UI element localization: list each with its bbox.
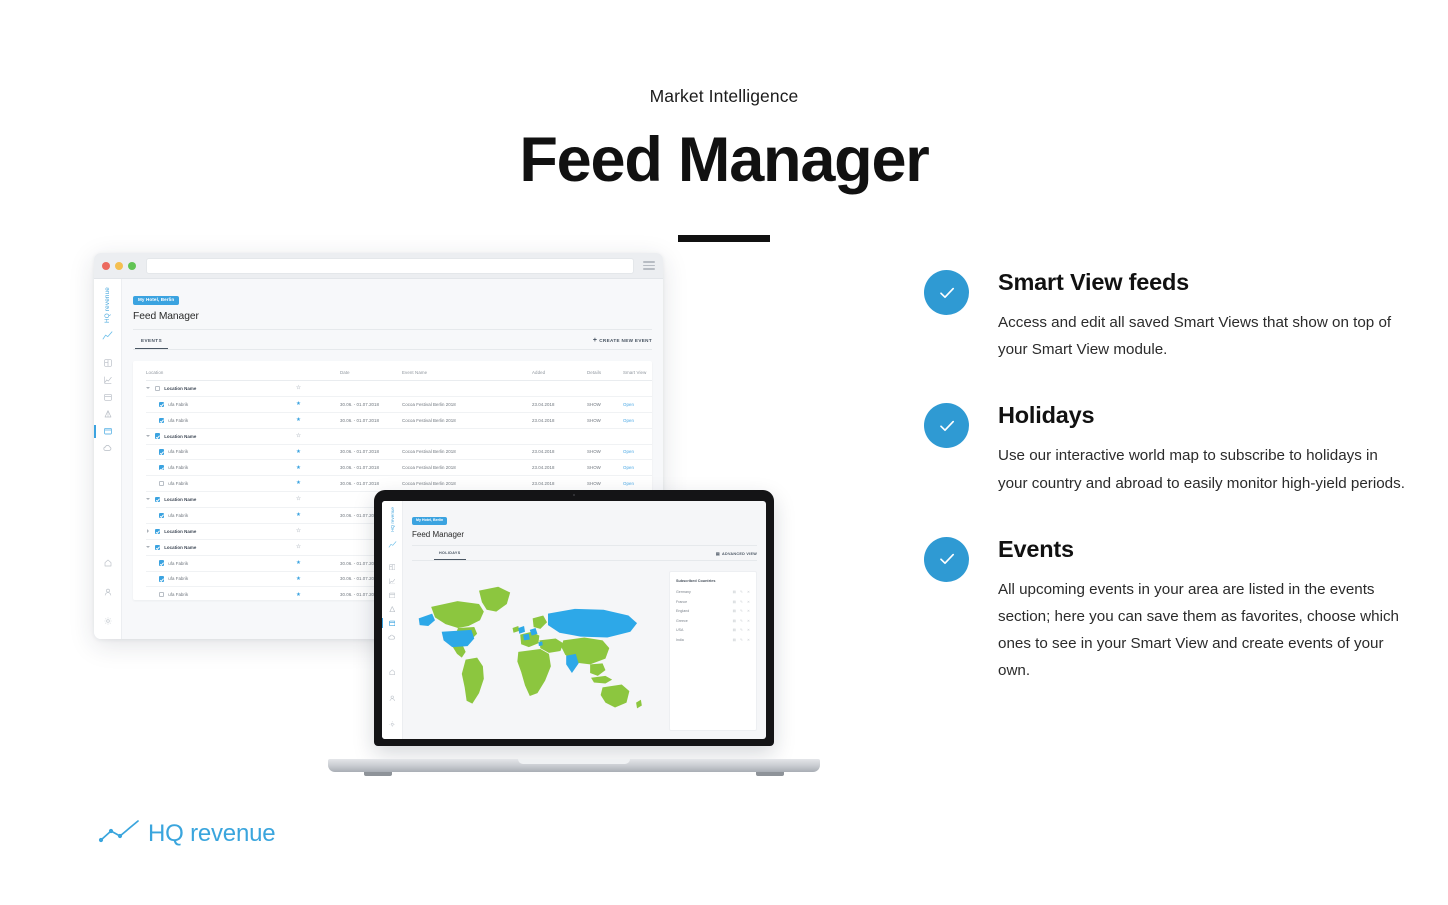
sidebar-brand-mark-icon (102, 327, 113, 345)
cell-favorite: ☆ (296, 381, 340, 397)
country-actions: ▤✎✕ (733, 590, 750, 594)
cell-event-name: Cocoa Festival Berlin 2018 (402, 396, 532, 412)
app-page-title: Feed Manager (133, 311, 652, 322)
laptop-mockup: HQ revenue (328, 490, 820, 780)
settings-icon[interactable] (389, 714, 396, 732)
cell-event-name (402, 428, 532, 444)
country-actions: ▤✎✕ (733, 638, 750, 642)
column-header-added[interactable]: Added (532, 370, 587, 381)
cell-added: 23.04.2018 (532, 460, 587, 476)
footer-brand-text: HQ revenue (148, 820, 275, 848)
feature-title: Events (998, 535, 1410, 563)
page-title: Feed Manager (0, 127, 1448, 193)
cell-added (532, 428, 587, 444)
favorite-star-icon[interactable]: ★ (296, 512, 301, 518)
cell-smart-view: Open (623, 460, 652, 476)
cell-favorite: ☆ (296, 428, 340, 444)
cell-details[interactable]: SHOW (587, 444, 623, 460)
cell-location: ufa Fabrik (146, 587, 296, 600)
user-icon[interactable] (389, 688, 396, 706)
hamburger-icon[interactable] (643, 261, 655, 270)
cell-location: ufa Fabrik (146, 571, 296, 587)
cell-date (340, 428, 402, 444)
subscribed-country-row[interactable]: Greece▤✎✕ (676, 619, 750, 623)
favorite-star-icon[interactable]: ★ (296, 576, 301, 582)
sidebar-item-calendar[interactable] (382, 592, 402, 599)
cell-details[interactable]: SHOW (587, 412, 623, 428)
sidebar-item-competitor[interactable] (382, 606, 402, 613)
country-name: USA (676, 628, 683, 632)
title-underline-rule (678, 235, 770, 242)
laptop-tabs-row: HOLIDAYS ▤ ADVANCED VIEW (412, 546, 757, 561)
remove-icon[interactable]: ✕ (747, 638, 750, 642)
cell-location: Location Name (146, 428, 296, 444)
row-checkbox[interactable] (159, 513, 164, 518)
row-checkbox[interactable] (159, 481, 164, 486)
table-row[interactable]: ufa Fabrik★30.06. - 01.07.2018Cocoa Fest… (146, 396, 652, 412)
cell-details[interactable]: SHOW (587, 396, 623, 412)
location-label: Location Name (164, 497, 196, 502)
feature-item-smart-view-feeds: Smart View feeds Access and edit all sav… (924, 268, 1410, 363)
feature-list: Smart View feeds Access and edit all sav… (924, 268, 1410, 684)
cell-location: Location Name (146, 381, 296, 397)
favorite-star-icon[interactable]: ★ (296, 417, 301, 423)
create-new-event-button[interactable]: + CREATE NEW EVENT (593, 337, 652, 349)
laptop-camera-icon (573, 494, 575, 496)
location-label: ufa Fabrik (168, 576, 188, 581)
country-actions: ▤✎✕ (733, 628, 750, 632)
calendar-icon[interactable]: ▤ (733, 609, 736, 613)
cell-added: 23.04.2018 (532, 412, 587, 428)
advanced-view-button[interactable]: ▤ ADVANCED VIEW (716, 551, 757, 560)
country-actions: ▤✎✕ (733, 600, 750, 604)
favorite-star-icon[interactable]: ★ (296, 480, 301, 486)
cell-location: ufa Fabrik (146, 396, 296, 412)
table-head: Location Date Event Name Added Details S… (146, 370, 652, 381)
sidebar-item-analytics[interactable] (94, 376, 121, 384)
laptop-base (328, 759, 820, 772)
cell-details[interactable]: SHOW (587, 460, 623, 476)
calendar-icon[interactable]: ▤ (733, 590, 736, 594)
calendar-icon[interactable]: ▤ (733, 638, 736, 642)
calendar-icon[interactable]: ▤ (733, 628, 736, 632)
edit-icon[interactable]: ✎ (740, 638, 743, 642)
laptop-sidebar-brand-mark-icon (388, 535, 397, 553)
subscribed-country-row[interactable]: USA▤✎✕ (676, 628, 750, 632)
location-label: ufa Fabrik (168, 561, 188, 566)
location-label: Location Name (164, 386, 196, 391)
favorite-star-icon[interactable]: ☆ (296, 528, 301, 534)
cell-location: ufa Fabrik (146, 508, 296, 524)
location-label: ufa Fabrik (168, 465, 188, 470)
row-checkbox[interactable] (159, 418, 164, 423)
edit-icon[interactable]: ✎ (740, 609, 743, 613)
advanced-view-label: ADVANCED VIEW (722, 552, 757, 556)
table-row[interactable]: ufa Fabrik★30.06. - 01.07.2018Cocoa Fest… (146, 412, 652, 428)
cell-favorite: ★ (296, 412, 340, 428)
url-input[interactable] (146, 258, 634, 274)
maximize-window-button[interactable] (128, 262, 136, 270)
location-label: ufa Fabrik (168, 513, 188, 518)
location-label: ufa Fabrik (168, 449, 188, 454)
edit-icon[interactable]: ✎ (740, 628, 743, 632)
cell-date (340, 381, 402, 397)
cell-location: ufa Fabrik (146, 555, 296, 571)
sidebar-bottom-nav (104, 554, 112, 630)
chevron-down-icon[interactable] (146, 497, 151, 502)
feature-item-holidays: Holidays Use our interactive world map t… (924, 401, 1410, 496)
location-label: ufa Fabrik (168, 402, 188, 407)
sidebar-item-competitor[interactable] (94, 410, 121, 418)
cell-details (587, 381, 623, 397)
world-map[interactable] (412, 571, 661, 731)
feature-body: Access and edit all saved Smart Views th… (998, 309, 1410, 363)
feature-body: Use our interactive world map to subscri… (998, 442, 1410, 496)
country-name: Germany (676, 590, 691, 594)
sidebar-item-dashboard[interactable] (382, 564, 402, 571)
close-window-button[interactable] (102, 262, 110, 270)
create-new-event-label: CREATE NEW EVENT (599, 338, 652, 343)
location-label: ufa Fabrik (168, 481, 188, 486)
table-header-row: Location Date Event Name Added Details S… (146, 370, 652, 381)
sidebar-item-analytics[interactable] (382, 578, 402, 585)
sidebar-item-cloud[interactable] (382, 634, 402, 641)
favorite-star-icon[interactable]: ★ (296, 592, 301, 598)
row-checkbox[interactable] (159, 465, 164, 470)
column-header-star (296, 370, 340, 381)
smart-view-open-link[interactable]: Open (623, 449, 634, 454)
subscribed-countries-list: Germany▤✎✕France▤✎✕England▤✎✕Greece▤✎✕US… (676, 590, 750, 642)
sidebar-item-feed-manager[interactable] (94, 427, 121, 435)
cell-added: 23.04.2018 (532, 396, 587, 412)
cell-smart-view: Open (623, 412, 652, 428)
location-label: ufa Fabrik (168, 418, 188, 423)
row-checkbox[interactable] (155, 529, 160, 534)
chevron-down-icon[interactable] (146, 434, 151, 439)
cell-location: ufa Fabrik (146, 412, 296, 428)
cell-location: Location Name (146, 523, 296, 539)
cell-added: 23.04.2018 (532, 444, 587, 460)
smart-view-open-link[interactable]: Open (623, 418, 634, 423)
cell-location: Location Name (146, 492, 296, 508)
smart-view-open-link[interactable]: Open (623, 402, 634, 407)
check-circle-icon (924, 403, 969, 448)
country-name: India (676, 638, 684, 642)
edit-icon[interactable]: ✎ (740, 600, 743, 604)
tabs-row: EVENTS + CREATE NEW EVENT (133, 330, 652, 350)
favorite-star-icon[interactable]: ☆ (296, 385, 301, 391)
home-icon[interactable] (104, 554, 112, 572)
column-header-details[interactable]: Details (587, 370, 623, 381)
table-row[interactable]: Location Name☆ (146, 381, 652, 397)
subscribed-country-row[interactable]: Germany▤✎✕ (676, 590, 750, 594)
location-label: ufa Fabrik (168, 592, 188, 597)
favorite-star-icon[interactable]: ☆ (296, 544, 301, 550)
cell-location: Location Name (146, 539, 296, 555)
row-checkbox[interactable] (159, 402, 164, 407)
browser-chrome-bar (94, 253, 663, 279)
page-header: Market Intelligence Feed Manager (0, 86, 1448, 242)
cell-event-name: Cocoa Festival Berlin 2018 (402, 460, 532, 476)
map-countries-green (431, 587, 642, 709)
laptop-sidebar-nav (382, 564, 402, 641)
cell-favorite: ★ (296, 396, 340, 412)
cell-added (532, 381, 587, 397)
column-header-location[interactable]: Location (146, 370, 296, 381)
sidebar-brand-text: HQ revenue (104, 287, 111, 323)
edit-icon[interactable]: ✎ (740, 590, 743, 594)
table-row[interactable]: ufa Fabrik★30.06. - 01.07.2018Cocoa Fest… (146, 460, 652, 476)
laptop-sidebar-bottom-nav (389, 662, 396, 732)
country-actions: ▤✎✕ (733, 619, 750, 623)
remove-icon[interactable]: ✕ (747, 628, 750, 632)
cell-favorite: ★ (296, 460, 340, 476)
eyebrow-text: Market Intelligence (0, 86, 1448, 107)
cell-location: ufa Fabrik (146, 460, 296, 476)
column-header-date[interactable]: Date (340, 370, 402, 381)
remove-icon[interactable]: ✕ (747, 590, 750, 594)
feature-title: Smart View feeds (998, 268, 1410, 296)
sidebar-item-cloud[interactable] (94, 444, 121, 452)
remove-icon[interactable]: ✕ (747, 619, 750, 623)
edit-icon[interactable]: ✎ (740, 619, 743, 623)
country-name: Greece (676, 619, 688, 623)
cell-location: ufa Fabrik (146, 444, 296, 460)
row-checkbox[interactable] (155, 386, 160, 391)
subscribed-country-row[interactable]: India▤✎✕ (676, 638, 750, 642)
check-circle-icon (924, 270, 969, 315)
chevron-down-icon[interactable] (146, 386, 151, 391)
smart-view-open-link[interactable]: Open (623, 465, 634, 470)
favorite-star-icon[interactable]: ☆ (296, 433, 301, 439)
calendar-icon[interactable]: ▤ (733, 619, 736, 623)
footer-brand-logo: HQ revenue (98, 818, 275, 849)
favorite-star-icon[interactable]: ★ (296, 465, 301, 471)
hotel-context-badge[interactable]: My Hotel, Berlin (412, 517, 447, 525)
laptop-screen: HQ revenue (382, 501, 766, 739)
favorite-star-icon[interactable]: ★ (296, 401, 301, 407)
sidebar-item-dashboard[interactable] (94, 359, 121, 367)
cell-event-name (402, 381, 532, 397)
subscribed-country-row[interactable]: England▤✎✕ (676, 609, 750, 613)
hotel-context-badge[interactable]: My Hotel, Berlin (133, 296, 179, 306)
laptop-feet (328, 772, 820, 776)
remove-icon[interactable]: ✕ (747, 600, 750, 604)
cell-date: 30.06. - 01.07.2018 (340, 460, 402, 476)
laptop-page-title: Feed Manager (412, 530, 757, 539)
home-icon[interactable] (389, 662, 396, 680)
location-label: Location Name (164, 529, 196, 534)
calendar-icon[interactable]: ▤ (733, 600, 736, 604)
cell-favorite: ★ (296, 444, 340, 460)
column-header-smart-view[interactable]: Smart View (623, 370, 652, 381)
row-checkbox[interactable] (159, 560, 164, 565)
traffic-light-group (102, 262, 136, 270)
line-chart-icon (98, 818, 142, 849)
subscribed-countries-panel: Subscribed Countries Germany▤✎✕France▤✎✕… (669, 571, 757, 731)
favorite-star-icon[interactable]: ★ (296, 449, 301, 455)
cell-smart-view (623, 428, 652, 444)
cell-smart-view: Open (623, 396, 652, 412)
feature-item-events: Events All upcoming events in your area … (924, 535, 1410, 684)
settings-icon[interactable] (104, 612, 112, 630)
row-checkbox[interactable] (155, 497, 160, 502)
cell-event-name: Cocoa Festival Berlin 2018 (402, 444, 532, 460)
laptop-lid: HQ revenue (374, 490, 774, 746)
sidebar-brand-logo: HQ revenue (104, 287, 111, 323)
cell-location: ufa Fabrik (146, 476, 296, 492)
cell-event-name: Cocoa Festival Berlin 2018 (402, 412, 532, 428)
check-circle-icon (924, 537, 969, 582)
chevron-down-icon[interactable] (146, 545, 151, 550)
cell-smart-view (623, 381, 652, 397)
sidebar-item-feed-manager[interactable] (382, 620, 402, 627)
row-checkbox[interactable] (155, 433, 160, 438)
minimize-window-button[interactable] (115, 262, 123, 270)
subscribed-country-row[interactable]: France▤✎✕ (676, 600, 750, 604)
column-header-event-name[interactable]: Event Name (402, 370, 532, 381)
laptop-app-content: My Hotel, Berlin Feed Manager HOLIDAYS ▤… (403, 501, 766, 739)
row-checkbox[interactable] (159, 592, 164, 597)
feature-title: Holidays (998, 401, 1410, 429)
sidebar-nav (94, 359, 121, 452)
location-label: Location Name (164, 434, 196, 439)
app-sidebar: HQ revenue (94, 279, 122, 639)
country-name: France (676, 600, 687, 604)
user-icon[interactable] (104, 583, 112, 601)
tab-events[interactable]: EVENTS (135, 338, 168, 349)
laptop-sidebar-brand-text: HQ revenue (390, 507, 395, 532)
laptop-app-sidebar: HQ revenue (382, 501, 403, 739)
laptop-main-area: Subscribed Countries Germany▤✎✕France▤✎✕… (412, 571, 757, 731)
cell-date: 30.06. - 01.07.2018 (340, 444, 402, 460)
smart-view-open-link[interactable]: Open (623, 481, 634, 486)
subscribed-countries-title: Subscribed Countries (676, 579, 750, 583)
row-checkbox[interactable] (159, 449, 164, 454)
chevron-right-icon[interactable] (146, 529, 151, 534)
tab-holidays[interactable]: HOLIDAYS (434, 551, 466, 560)
table-row[interactable]: Location Name☆ (146, 428, 652, 444)
favorite-star-icon[interactable]: ☆ (296, 496, 301, 502)
cell-smart-view: Open (623, 444, 652, 460)
grid-icon: ▤ (716, 551, 720, 556)
row-checkbox[interactable] (159, 576, 164, 581)
table-row[interactable]: ufa Fabrik★30.06. - 01.07.2018Cocoa Fest… (146, 444, 652, 460)
location-label: Location Name (164, 545, 196, 550)
cell-date: 30.06. - 01.07.2018 (340, 412, 402, 428)
plus-icon: + (593, 337, 597, 344)
country-actions: ▤✎✕ (733, 609, 750, 613)
sidebar-item-calendar[interactable] (94, 393, 121, 401)
remove-icon[interactable]: ✕ (747, 609, 750, 613)
favorite-star-icon[interactable]: ★ (296, 560, 301, 566)
cell-details (587, 428, 623, 444)
cell-date: 30.06. - 01.07.2018 (340, 396, 402, 412)
country-name: England (676, 609, 689, 613)
feature-body: All upcoming events in your area are lis… (998, 576, 1410, 684)
row-checkbox[interactable] (155, 545, 160, 550)
